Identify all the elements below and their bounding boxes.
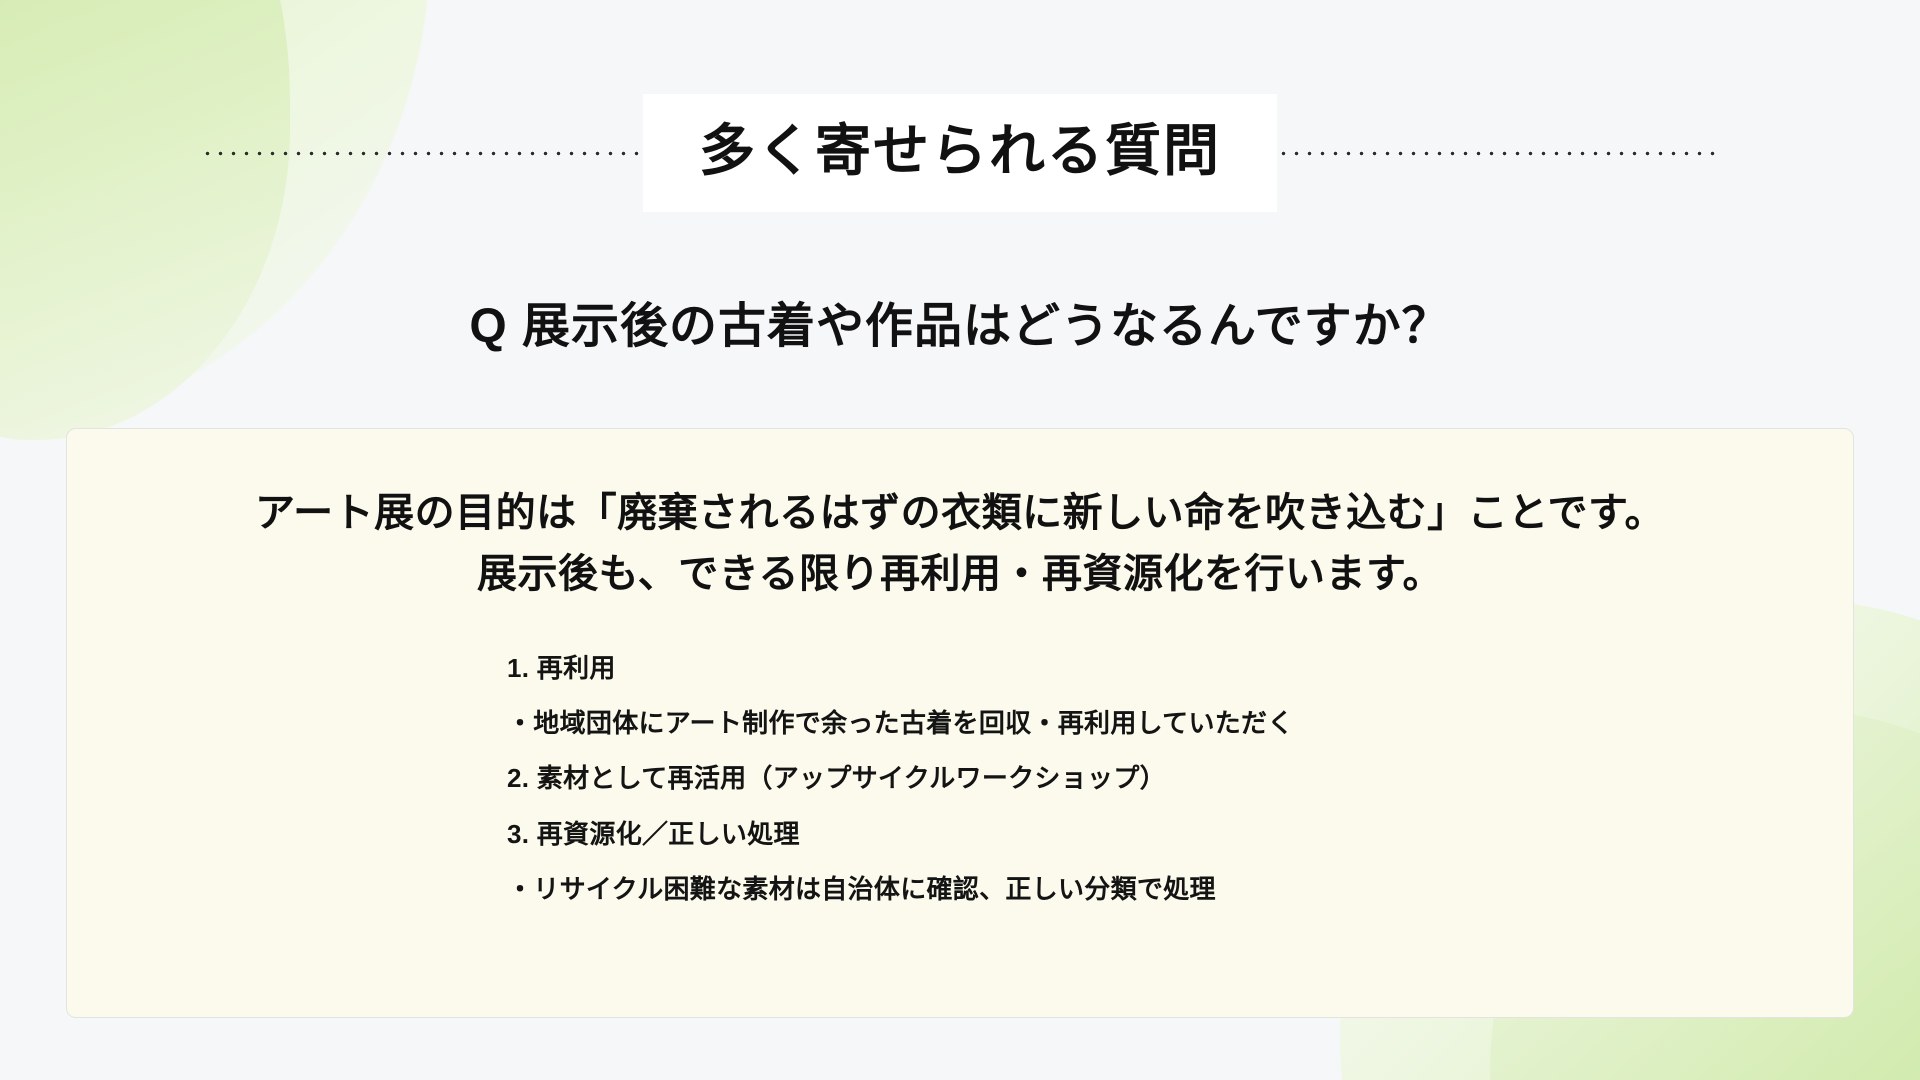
question-heading: Q 展示後の古着や作品はどうなるんですか？ [0, 298, 1920, 356]
list-item: ・地域団体にアート制作で余った古着を回収・再利用していただく [507, 706, 1793, 740]
answer-lead-line-2: 展示後も、できる限り再利用・再資源化を行います。 [127, 544, 1793, 605]
answer-item-list: 1. 再利用 ・地域団体にアート制作で余った古着を回収・再利用していただく 2.… [127, 651, 1793, 907]
dotted-rule-right [1277, 151, 1719, 156]
slide-root: 多く寄せられる質問 Q 展示後の古着や作品はどうなるんですか？ アート展の目的は… [0, 0, 1920, 1080]
list-item: 1. 再利用 [507, 651, 1793, 685]
dotted-rule-left [201, 151, 643, 156]
answer-lead-line-1: アート展の目的は「廃棄されるはずの衣類に新しい命を吹き込む」ことです。 [127, 483, 1793, 544]
answer-card: アート展の目的は「廃棄されるはずの衣類に新しい命を吹き込む」ことです。 展示後も… [66, 428, 1854, 1018]
page-title: 多く寄せられる質問 [699, 120, 1221, 182]
list-item: 2. 素材として再活用（アップサイクルワークショップ） [507, 761, 1793, 795]
title-plate: 多く寄せられる質問 [643, 94, 1277, 212]
header-banner: 多く寄せられる質問 [0, 72, 1920, 234]
list-item: ・リサイクル困難な素材は自治体に確認、正しい分類で処理 [507, 872, 1793, 906]
list-item: 3. 再資源化／正しい処理 [507, 817, 1793, 851]
answer-lead-paragraph: アート展の目的は「廃棄されるはずの衣類に新しい命を吹き込む」ことです。 展示後も… [127, 483, 1793, 605]
